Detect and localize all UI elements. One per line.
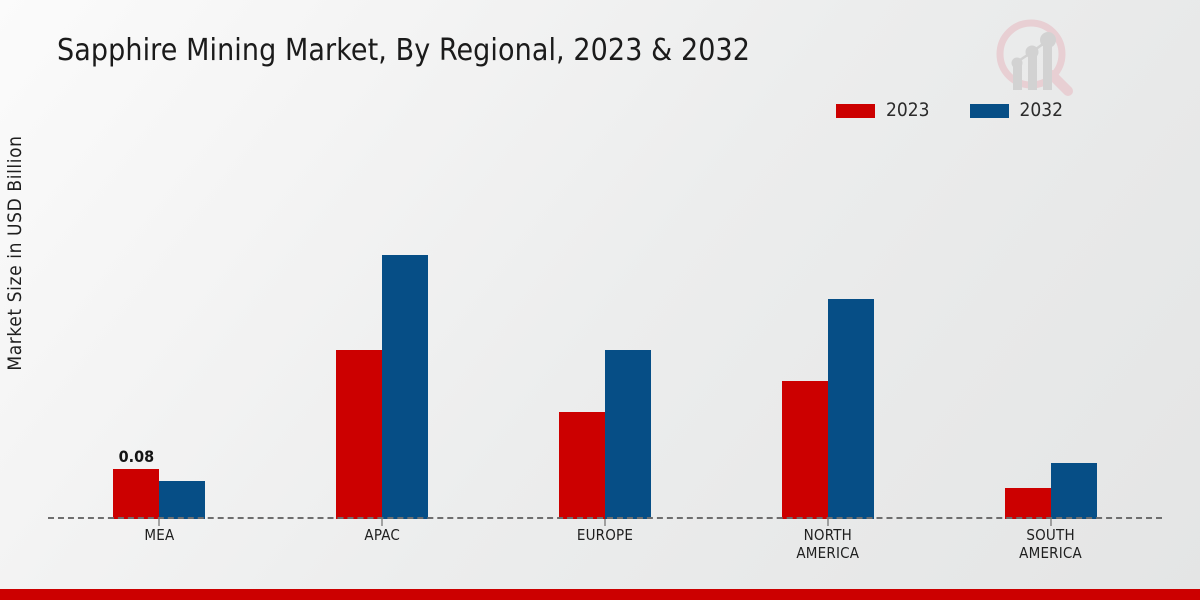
x-axis-label-line: AMERICA	[716, 544, 939, 562]
x-axis-label-line: EUROPE	[494, 526, 717, 544]
bar-group: 0.08	[48, 130, 271, 519]
chart-legend: 2023 2032	[836, 101, 1063, 120]
x-axis-label-line: NORTH	[716, 526, 939, 544]
x-axis-tick	[382, 519, 383, 526]
legend-item-2032[interactable]: 2032	[970, 101, 1064, 120]
x-axis-label: MEA	[48, 526, 271, 562]
x-axis-label-line: MEA	[48, 526, 271, 544]
bar-value-label: 0.08	[119, 447, 155, 466]
bar-2023-south-america[interactable]	[1005, 488, 1051, 519]
x-axis-label-line: APAC	[271, 526, 494, 544]
footer-band	[0, 589, 1200, 600]
bar-groups: 0.08	[48, 130, 1162, 519]
bar-pair	[782, 130, 874, 519]
x-axis-tick	[1050, 519, 1051, 526]
bar-2032-europe[interactable]	[605, 350, 651, 519]
bar-2023-europe[interactable]	[559, 412, 605, 519]
bar-2023-mea[interactable]: 0.08	[113, 469, 159, 519]
bar-group	[716, 130, 939, 519]
bar-2032-south-america[interactable]	[1051, 463, 1097, 519]
plot-area: 0.08	[48, 130, 1162, 519]
legend-label-2032: 2032	[1020, 101, 1064, 120]
x-axis-labels: MEAAPACEUROPENORTHAMERICASOUTHAMERICA	[48, 526, 1162, 562]
bar-pair	[336, 130, 428, 519]
x-axis-label-line: AMERICA	[939, 544, 1162, 562]
bar-pair	[559, 130, 651, 519]
x-axis-tick	[827, 519, 828, 526]
x-axis-tick	[604, 519, 605, 526]
legend-swatch-2023	[836, 104, 875, 118]
bar-2032-mea[interactable]	[159, 481, 205, 519]
bar-group	[939, 130, 1162, 519]
bar-pair: 0.08	[113, 130, 205, 519]
legend-swatch-2032	[970, 104, 1009, 118]
bar-2032-apac[interactable]	[382, 255, 428, 519]
bar-2032-north-america[interactable]	[828, 299, 874, 519]
chart-figure: Sapphire Mining Market, By Regional, 202…	[0, 0, 1200, 600]
chart-title: Sapphire Mining Market, By Regional, 202…	[57, 33, 750, 68]
x-axis-tick	[159, 519, 160, 526]
x-axis-label: APAC	[271, 526, 494, 562]
watermark-logo-icon	[988, 12, 1080, 100]
x-axis-label: NORTHAMERICA	[716, 526, 939, 562]
x-axis-baseline	[48, 517, 1162, 519]
x-axis-label-line: SOUTH	[939, 526, 1162, 544]
x-axis-label: EUROPE	[494, 526, 717, 562]
bar-pair	[1005, 130, 1097, 519]
x-axis-label: SOUTHAMERICA	[939, 526, 1162, 562]
legend-label-2023: 2023	[886, 101, 930, 120]
legend-item-2023[interactable]: 2023	[836, 101, 930, 120]
bar-group	[271, 130, 494, 519]
bar-2023-apac[interactable]	[336, 350, 382, 519]
bar-group	[494, 130, 717, 519]
y-axis-title: Market Size in USD Billion	[4, 0, 38, 553]
bar-2023-north-america[interactable]	[782, 381, 828, 519]
